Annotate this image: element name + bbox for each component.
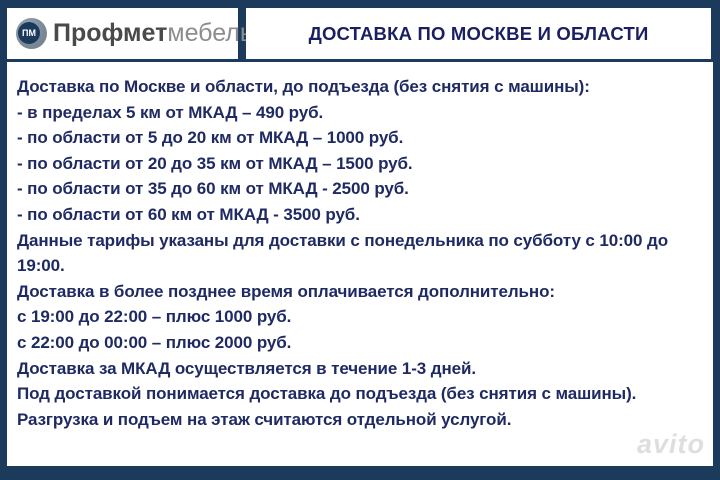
delivery-terms-body: Доставка по Москве и области, до подъезд… — [7, 62, 713, 466]
terms-line: Доставка по Москве и области, до подъезд… — [17, 74, 707, 100]
terms-line: с 22:00 до 00:00 – плюс 2000 руб. — [17, 330, 707, 356]
brand-name: Профметмебель — [53, 21, 253, 46]
terms-line: - по области от 35 до 60 км от МКАД - 25… — [17, 176, 707, 202]
terms-line: с 19:00 до 22:00 – плюс 1000 руб. — [17, 304, 707, 330]
terms-line: - по области от 60 км от МКАД - 3500 руб… — [17, 202, 707, 228]
page-title: ДОСТАВКА ПО МОСКВЕ И ОБЛАСТИ — [309, 23, 649, 45]
terms-line: Данные тарифы указаны для доставки с пон… — [17, 228, 707, 279]
brand-name-bold: Профмет — [53, 19, 167, 47]
header-divider — [238, 7, 246, 62]
profmet-circle-logo-icon: ПМ — [16, 18, 47, 49]
terms-line: - по области от 20 до 35 км от МКАД – 15… — [17, 151, 707, 177]
logo-badge-text: ПМ — [22, 29, 36, 38]
logo-inner-circle: ПМ — [18, 22, 40, 44]
terms-line: - по области от 5 до 20 км от МКАД – 100… — [17, 125, 707, 151]
delivery-info-card: ПМ Профметмебель ДОСТАВКА ПО МОСКВЕ И ОБ… — [0, 0, 720, 480]
brand-logo-box[interactable]: ПМ Профметмебель — [7, 8, 238, 59]
terms-line: Под доставкой понимается доставка до под… — [17, 381, 707, 432]
avito-watermark: avito — [637, 429, 705, 460]
page-title-box: ДОСТАВКА ПО МОСКВЕ И ОБЛАСТИ — [246, 8, 711, 59]
terms-line: Доставка за МКАД осуществляется в течени… — [17, 356, 707, 382]
terms-line: - в пределах 5 км от МКАД – 490 руб. — [17, 100, 707, 126]
header-bar: ПМ Профметмебель ДОСТАВКА ПО МОСКВЕ И ОБ… — [7, 7, 713, 62]
terms-line: Доставка в более позднее время оплачивае… — [17, 279, 707, 305]
